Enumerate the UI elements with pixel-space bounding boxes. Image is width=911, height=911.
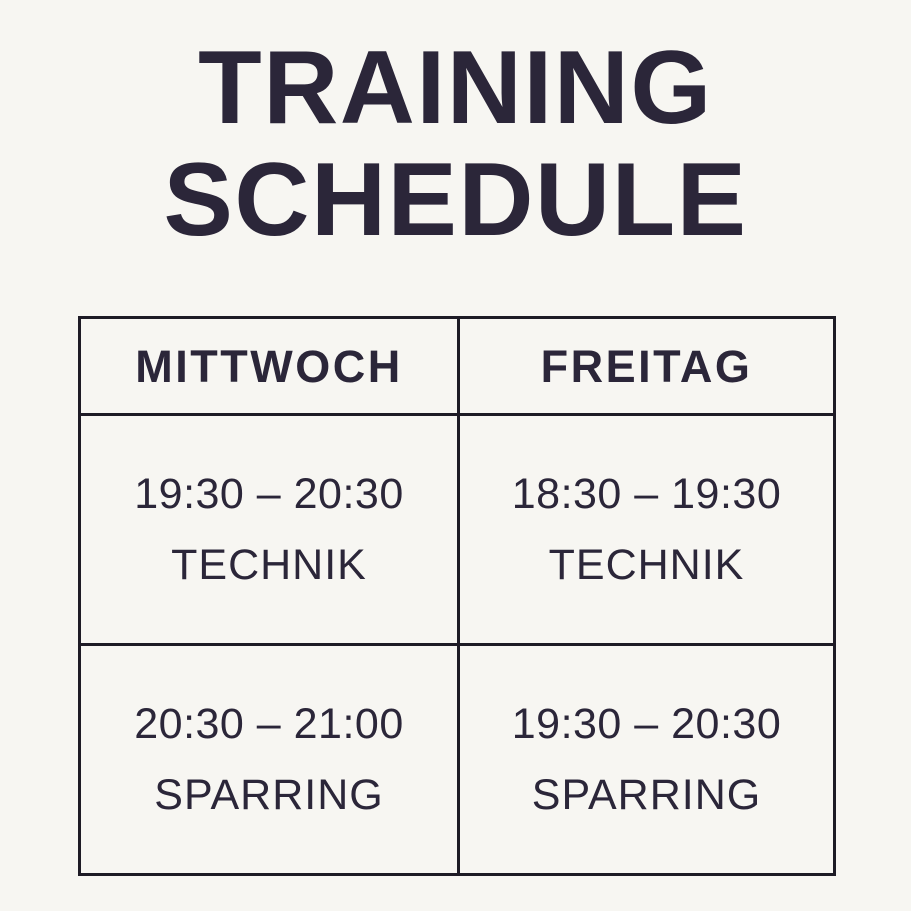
session-cell-freitag-sparring: 19:30 – 20:30 SPARRING — [459, 645, 835, 875]
page-title: TRAINING SCHEDULE — [0, 32, 911, 256]
session-content: 19:30 – 20:30 SPARRING — [460, 646, 833, 873]
session-time: 19:30 – 20:30 — [134, 473, 404, 516]
training-schedule-poster: TRAINING SCHEDULE MITTWOCH FREITAG 19:30… — [0, 0, 911, 911]
table-row: 19:30 – 20:30 TECHNIK 18:30 – 19:30 TECH… — [80, 415, 835, 645]
schedule-table-body: 19:30 – 20:30 TECHNIK 18:30 – 19:30 TECH… — [80, 415, 835, 875]
schedule-table: MITTWOCH FREITAG 19:30 – 20:30 TECHNIK 1… — [78, 316, 836, 876]
session-cell-mittwoch-technik: 19:30 – 20:30 TECHNIK — [80, 415, 459, 645]
session-time: 19:30 – 20:30 — [512, 703, 782, 746]
session-activity: TECHNIK — [171, 544, 367, 587]
session-content: 20:30 – 21:00 SPARRING — [81, 646, 457, 873]
session-time: 20:30 – 21:00 — [134, 703, 404, 746]
session-activity: SPARRING — [154, 774, 383, 817]
session-time: 18:30 – 19:30 — [512, 473, 782, 516]
title-line-training: TRAINING — [0, 32, 911, 144]
table-row: 20:30 – 21:00 SPARRING 19:30 – 20:30 SPA… — [80, 645, 835, 875]
session-activity: SPARRING — [532, 774, 761, 817]
session-activity: TECHNIK — [549, 544, 745, 587]
session-content: 18:30 – 19:30 TECHNIK — [460, 416, 833, 643]
title-line-schedule: SCHEDULE — [0, 144, 911, 256]
column-header-mittwoch: MITTWOCH — [80, 318, 459, 415]
table-header-row: MITTWOCH FREITAG — [80, 318, 835, 415]
schedule-table-head: MITTWOCH FREITAG — [80, 318, 835, 415]
session-cell-freitag-technik: 18:30 – 19:30 TECHNIK — [459, 415, 835, 645]
column-header-freitag: FREITAG — [459, 318, 835, 415]
session-content: 19:30 – 20:30 TECHNIK — [81, 416, 457, 643]
session-cell-mittwoch-sparring: 20:30 – 21:00 SPARRING — [80, 645, 459, 875]
